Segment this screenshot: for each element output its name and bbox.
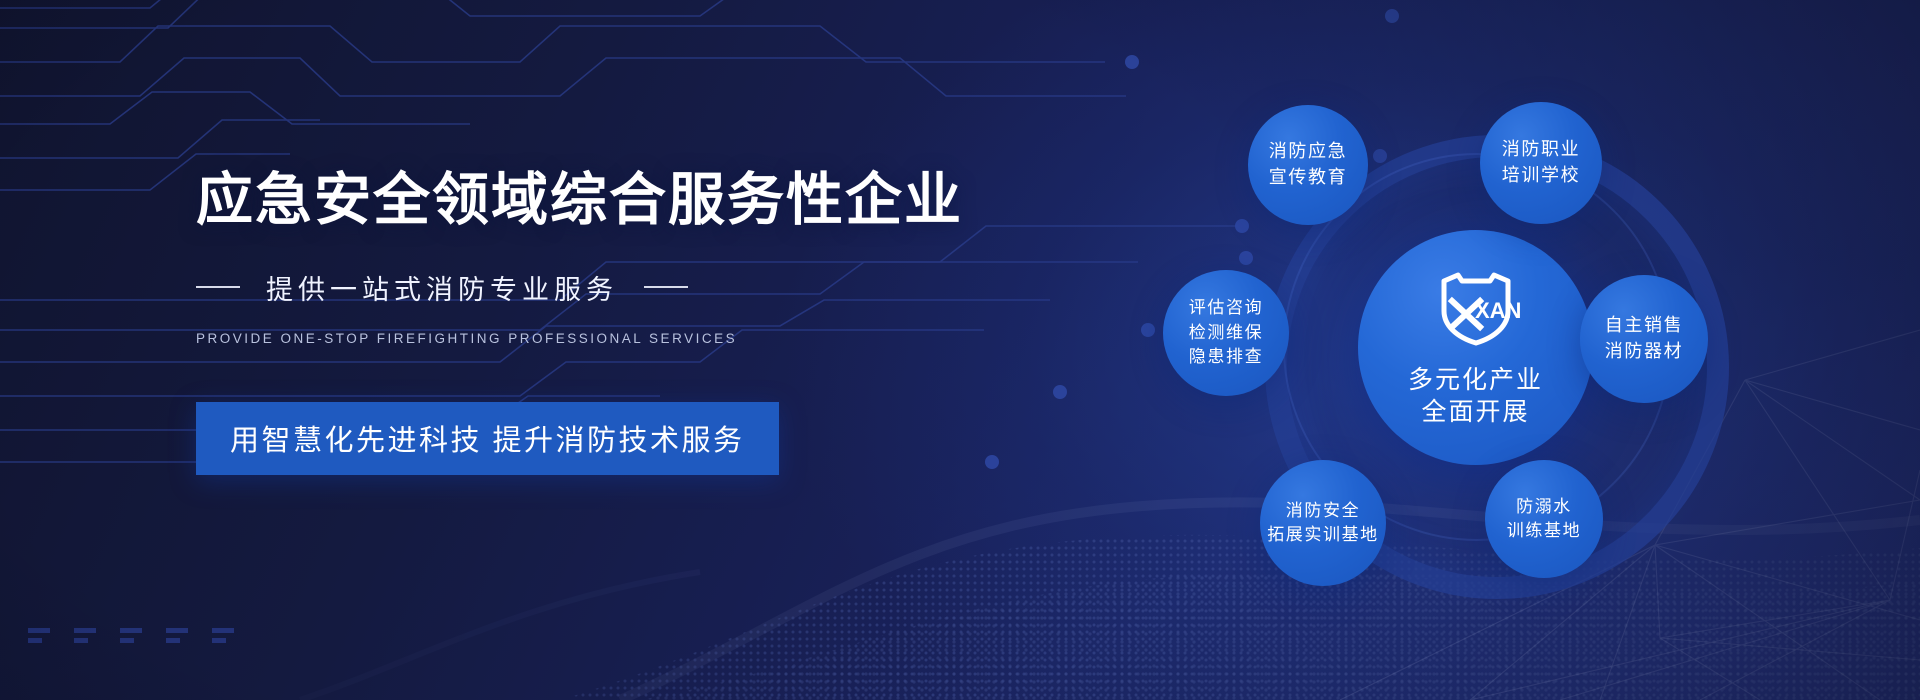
services-diagram: XAN 多元化产业 全面开展 消防应急 宣传教育 消防职业 培训学校 自主销售 …: [1115, 60, 1815, 640]
node-label-line2: 检测维保: [1189, 321, 1263, 346]
node-label-line2: 拓展实训基地: [1267, 523, 1379, 547]
diagram-center-node[interactable]: XAN 多元化产业 全面开展: [1358, 230, 1593, 465]
dash-left-icon: [196, 286, 240, 288]
hero-text-block: 应急安全领域综合服务性企业 提供一站式消防专业服务 PROVIDE ONE-ST…: [196, 168, 956, 475]
center-label-line2: 全面开展: [1421, 396, 1529, 429]
diagram-node-pinggu-zixun[interactable]: 评估咨询 检测维保 隐患排查: [1163, 270, 1289, 396]
page-title: 应急安全领域综合服务性企业: [196, 168, 956, 234]
node-label-line2: 消防器材: [1605, 339, 1683, 365]
svg-text:XAN: XAN: [1475, 298, 1521, 323]
node-label-line2: 宣传教育: [1269, 165, 1347, 191]
diagram-node-xiaofang-anquan[interactable]: 消防安全 拓展实训基地: [1260, 460, 1386, 586]
hero-english-subtitle: PROVIDE ONE-STOP FIREFIGHTING PROFESSION…: [196, 331, 956, 346]
dash-right-icon: [644, 286, 688, 288]
subtitle-row: 提供一站式消防专业服务: [196, 268, 956, 307]
cta-button[interactable]: 用智慧化先进科技 提升消防技术服务: [196, 402, 779, 475]
node-label-line1: 消防职业: [1502, 137, 1580, 163]
diagram-node-xiaofang-zhiye[interactable]: 消防职业 培训学校: [1480, 102, 1602, 224]
center-label-line1: 多元化产业: [1408, 364, 1543, 397]
xan-shield-logo-icon: XAN: [1428, 267, 1524, 354]
node-label-line2: 培训学校: [1502, 163, 1580, 189]
node-label-line2: 训练基地: [1507, 519, 1581, 543]
cta-button-label: 用智慧化先进科技 提升消防技术服务: [230, 425, 745, 457]
node-label-line1: 消防安全: [1286, 499, 1360, 523]
node-label-line1: 自主销售: [1605, 313, 1683, 339]
node-label-line1: 防溺水: [1516, 495, 1572, 519]
hero-banner: 应急安全领域综合服务性企业 提供一站式消防专业服务 PROVIDE ONE-ST…: [0, 0, 1920, 700]
diagram-node-xiaofang-yingji[interactable]: 消防应急 宣传教育: [1248, 105, 1368, 225]
node-label-line1: 消防应急: [1269, 139, 1347, 165]
node-label-line1: 评估咨询: [1189, 296, 1263, 321]
diagram-node-zizhu-xiaoshou[interactable]: 自主销售 消防器材: [1580, 275, 1708, 403]
hero-subtitle: 提供一站式消防专业服务: [266, 268, 618, 307]
diagram-node-fang-nishui[interactable]: 防溺水 训练基地: [1485, 460, 1603, 578]
node-label-line3: 隐患排查: [1189, 345, 1263, 370]
